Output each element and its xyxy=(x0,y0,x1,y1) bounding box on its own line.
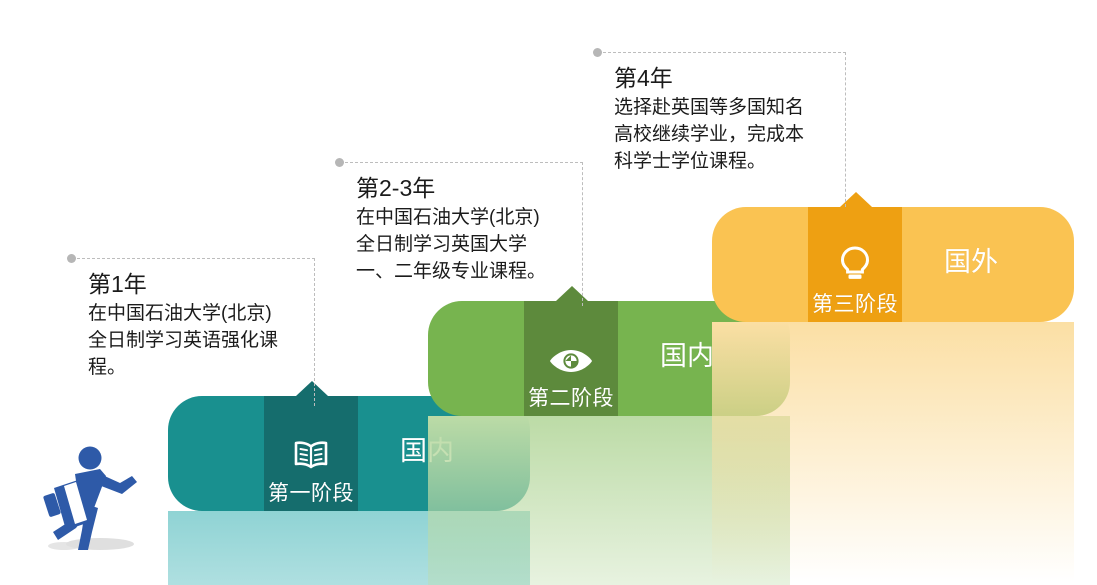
callout-dot-icon xyxy=(593,48,602,57)
callout-year-4-title: 第4年 xyxy=(614,63,833,93)
callout-dot-icon xyxy=(335,158,344,167)
callout-year-1-title: 第1年 xyxy=(88,269,302,299)
stage-3-region-label: 国外 xyxy=(944,247,998,277)
stage-2-badge[interactable]: 第二阶段 xyxy=(524,301,618,416)
callout-year-1-body: 在中国石油大学(北京) 全日制学习英语强化课 程。 xyxy=(88,300,302,381)
stage-1-badge[interactable]: 第一阶段 xyxy=(264,396,358,511)
callout-year-2-3-title: 第2-3年 xyxy=(356,173,570,203)
open-book-icon xyxy=(293,440,329,475)
callout-year-4: 第4年 选择赴英国等多国知名 高校继续学业，完成本 科学士学位课程。 xyxy=(598,52,846,207)
callout-year-2-3: 第2-3年 在中国石油大学(北京) 全日制学习英国大学 一、二年级专业课程。 xyxy=(340,162,583,306)
stage-3-fade xyxy=(712,322,1074,582)
infographic-canvas: 第一阶段 国内 第二阶段 国内 xyxy=(0,0,1097,585)
stage-1-label: 第一阶段 xyxy=(268,481,354,507)
callout-year-2-3-body: 在中国石油大学(北京) 全日制学习英国大学 一、二年级专业课程。 xyxy=(356,204,570,285)
stage-3-label: 第三阶段 xyxy=(812,292,898,318)
callout-year-4-body: 选择赴英国等多国知名 高校继续学业，完成本 科学士学位课程。 xyxy=(614,94,833,175)
stage-3-step[interactable]: 第三阶段 国外 xyxy=(712,207,1074,322)
stage-3-badge[interactable]: 第三阶段 xyxy=(808,207,902,322)
stage-2-region-label: 国内 xyxy=(660,341,714,371)
lightbulb-icon xyxy=(838,245,872,286)
eye-clock-icon xyxy=(548,347,594,380)
callout-year-1: 第1年 在中国石油大学(北京) 全日制学习英语强化课 程。 xyxy=(72,258,315,406)
callout-dot-icon xyxy=(67,254,76,263)
stage-2-label: 第二阶段 xyxy=(528,386,614,412)
running-businessman-icon xyxy=(28,436,150,558)
